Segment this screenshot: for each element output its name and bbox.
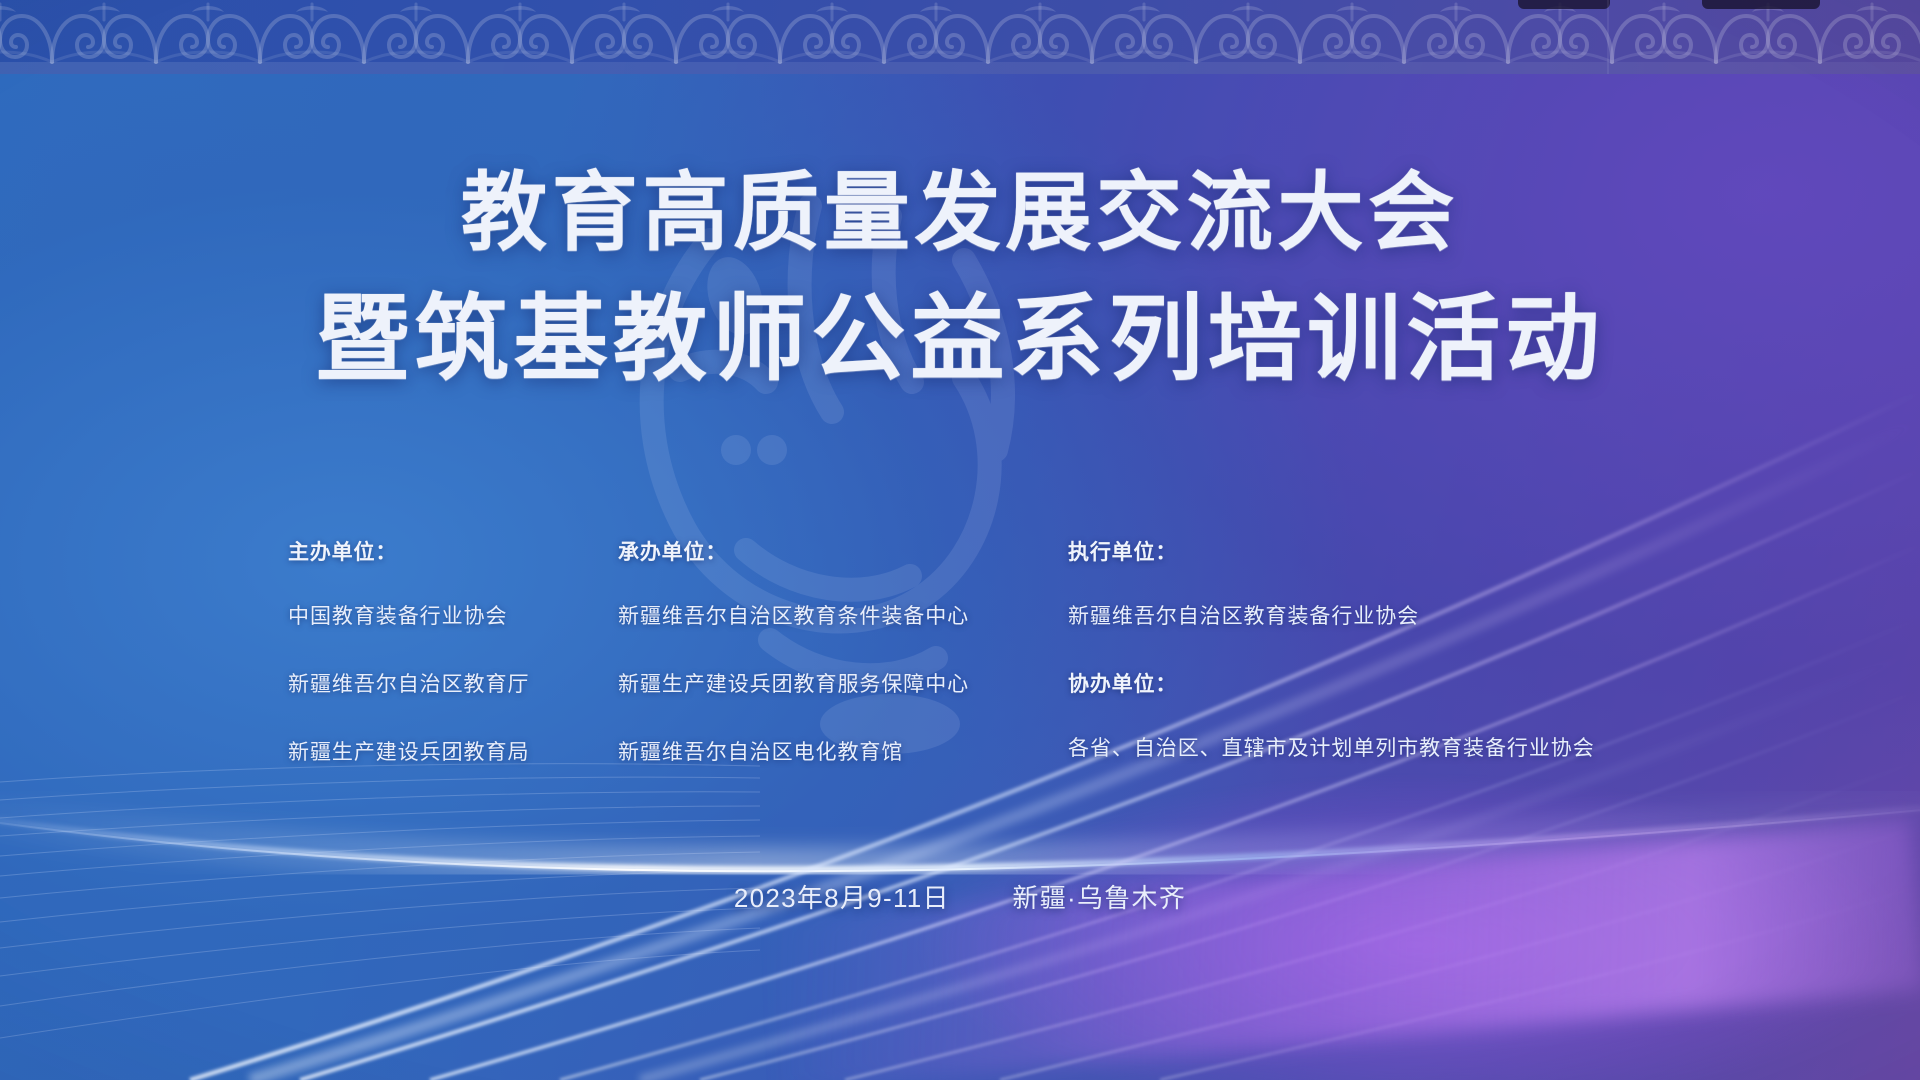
- organizer-item: 新疆维吾尔自治区电化教育馆: [618, 736, 1068, 766]
- organizer-heading-secondary: 协办单位：: [1068, 668, 1708, 698]
- organizer-item-secondary: 各省、自治区、直辖市及计划单列市教育装备行业协会: [1068, 732, 1708, 762]
- organizers-grid: 主办单位： 中国教育装备行业协会 新疆维吾尔自治区教育厅 新疆生产建设兵团教育局…: [288, 536, 1708, 766]
- event-date: 2023年8月9-11日: [734, 883, 950, 913]
- banner-content: 教育高质量发展交流大会 暨筑基教师公益系列培训活动 主办单位： 中国教育装备行业…: [0, 0, 1920, 1080]
- organizer-item: 新疆生产建设兵团教育服务保障中心: [618, 668, 1068, 698]
- conference-banner: 教育高质量发展交流大会 暨筑基教师公益系列培训活动 主办单位： 中国教育装备行业…: [0, 0, 1920, 1080]
- organizer-item: 新疆维吾尔自治区教育厅: [288, 668, 618, 698]
- title-line-2: 暨筑基教师公益系列培训活动: [0, 281, 1920, 398]
- event-footer: 2023年8月9-11日 新疆·乌鲁木齐: [0, 878, 1920, 915]
- title-line-1: 教育高质量发展交流大会: [0, 160, 1920, 267]
- organizer-heading: 主办单位：: [288, 536, 618, 566]
- organizer-item: 新疆维吾尔自治区教育装备行业协会: [1068, 600, 1708, 630]
- organizer-item: 中国教育装备行业协会: [288, 600, 618, 630]
- organizer-item: 新疆生产建设兵团教育局: [288, 736, 618, 766]
- organizer-item: 新疆维吾尔自治区教育条件装备中心: [618, 600, 1068, 630]
- organizer-column-coorganizer: 承办单位： 新疆维吾尔自治区教育条件装备中心 新疆生产建设兵团教育服务保障中心 …: [618, 536, 1068, 766]
- organizer-heading: 执行单位：: [1068, 536, 1708, 566]
- organizer-column-executor: 执行单位： 新疆维吾尔自治区教育装备行业协会 协办单位： 各省、自治区、直辖市及…: [1068, 536, 1708, 766]
- event-title: 教育高质量发展交流大会 暨筑基教师公益系列培训活动: [0, 160, 1920, 397]
- event-location: 新疆·乌鲁木齐: [1012, 883, 1186, 913]
- organizer-column-host: 主办单位： 中国教育装备行业协会 新疆维吾尔自治区教育厅 新疆生产建设兵团教育局: [288, 536, 618, 766]
- organizer-heading: 承办单位：: [618, 536, 1068, 566]
